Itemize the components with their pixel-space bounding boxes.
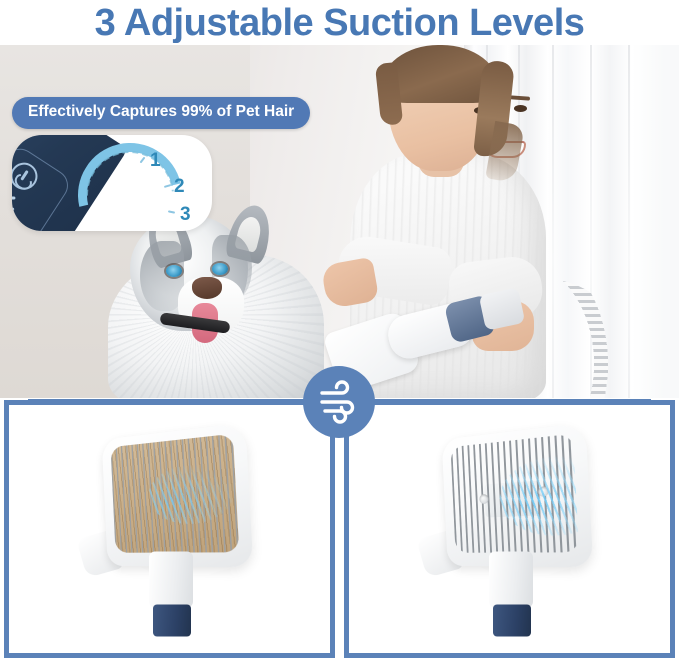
page-title: 3 Adjustable Suction Levels <box>95 4 585 42</box>
wind-airflow-icon <box>303 366 375 438</box>
brush-navy-base <box>493 605 531 637</box>
suction-level-3: 3 <box>180 205 191 224</box>
dog-eye-icon <box>166 265 182 277</box>
dog-head <box>130 215 248 331</box>
brush-with-collected-hair <box>45 422 295 637</box>
capture-rate-badge: Effectively Captures 99% of Pet Hair <box>12 97 310 129</box>
level-indicator-dash <box>12 208 14 211</box>
clean-brush-with-suction <box>385 422 635 637</box>
suction-level-2: 2 <box>174 177 185 196</box>
brush-navy-base <box>153 605 191 637</box>
suction-level-1: 1 <box>150 151 161 170</box>
dog-eye-icon <box>212 263 228 275</box>
page-title-bar: 3 Adjustable Suction Levels <box>0 0 679 45</box>
product-feature-poster: 3 Adjustable Suction Levels <box>0 0 679 662</box>
level-indicator-dash <box>12 197 15 200</box>
dog-nose-icon <box>192 277 222 299</box>
panel-hair-sucked <box>344 400 675 658</box>
panel-hair-collected <box>4 400 335 658</box>
suction-level-dial-card: 1 2 3 <box>12 135 212 231</box>
